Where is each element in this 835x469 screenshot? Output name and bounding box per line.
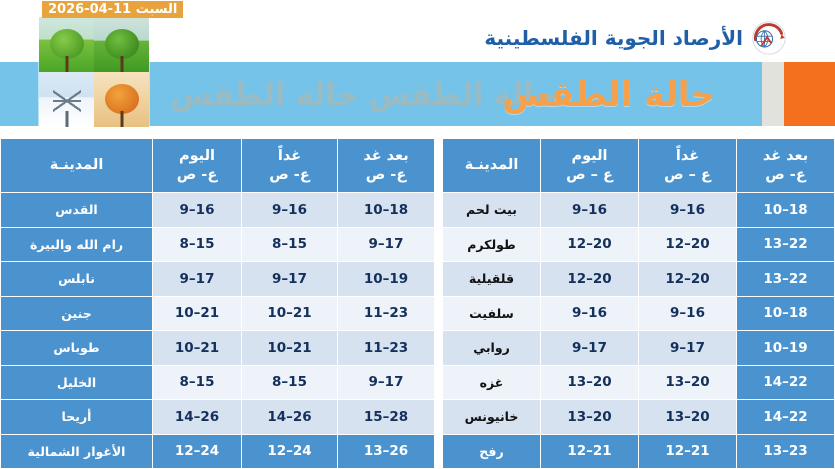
cell-day-after-temp: 13–22 <box>737 262 835 297</box>
cell-today-temp: 12–20 <box>541 262 639 297</box>
table-header-row: بعد غد ع- ص غداً ع – ص اليوم ع – ص المدي… <box>443 139 835 193</box>
cell-day-after-temp: 15–28 <box>338 400 435 435</box>
temperature-range: 10–18 <box>364 202 408 218</box>
header-line-2: ع- ص <box>338 166 434 184</box>
cell-tomorrow-temp: 10–21 <box>242 296 338 331</box>
temperature-range: 13–20 <box>567 409 611 425</box>
date-day-name: السبت <box>136 2 178 17</box>
header-line-1: بعد غد <box>763 148 808 164</box>
cell-today-temp: 14–26 <box>153 400 242 435</box>
forecast-table-left-body: 10–189–169–16بيت لحم13–2212–2012–20طولكر… <box>443 193 835 469</box>
forecast-tables: بعد غد ع- ص غداً ع – ص اليوم ع – ص المدي… <box>0 138 835 469</box>
date-value: 2026-04-11 <box>48 2 131 17</box>
temperature-range: 10–21 <box>175 340 219 356</box>
cell-city: روابي <box>443 331 541 366</box>
temperature-range: 13–22 <box>763 271 807 287</box>
cell-today-temp: 9–16 <box>541 296 639 331</box>
cell-city: رفح <box>443 434 541 469</box>
temperature-range: 9–17 <box>272 271 307 287</box>
cell-city: قلقيلية <box>443 262 541 297</box>
season-panel-spring <box>94 17 149 72</box>
cell-city: خانيونس <box>443 400 541 435</box>
column-header-today: اليوم ع – ص <box>541 139 639 193</box>
four-seasons-image <box>38 16 150 128</box>
temperature-range: 15–28 <box>364 409 408 425</box>
forecast-table-left: بعد غد ع- ص غداً ع – ص اليوم ع – ص المدي… <box>442 138 835 469</box>
table-row: 9–178–158–15رام الله والبيرة <box>1 227 435 262</box>
season-panel-winter <box>39 72 94 127</box>
cell-today-temp: 9–17 <box>541 331 639 366</box>
cell-today-temp: 12–24 <box>153 434 242 469</box>
temperature-range: 9–17 <box>369 236 404 252</box>
table-row: 10–199–179–17روابي <box>443 331 835 366</box>
temperature-range: 10–21 <box>267 305 311 321</box>
cell-today-temp: 12–20 <box>541 227 639 262</box>
table-row: 13–2212–2012–20قلقيلية <box>443 262 835 297</box>
cell-today-temp: 8–15 <box>153 365 242 400</box>
temperature-range: 9–17 <box>572 340 607 356</box>
cell-city: الأغوار الشمالية <box>1 434 153 469</box>
temperature-range: 9–17 <box>180 271 215 287</box>
organization-name: الأرصاد الجوية الفلسطينية <box>484 26 743 50</box>
cell-day-after-temp: 11–23 <box>338 331 435 366</box>
cell-city: غزه <box>443 365 541 400</box>
cell-day-after-temp: 10–19 <box>737 331 835 366</box>
temperature-range: 10–18 <box>763 202 807 218</box>
temperature-range: 14–26 <box>175 409 219 425</box>
cell-today-temp: 10–21 <box>153 331 242 366</box>
table-row: 13–2312–2112–21رفح <box>443 434 835 469</box>
cell-tomorrow-temp: 9–16 <box>639 296 737 331</box>
header-line-1: اليوم <box>571 148 607 164</box>
table-row: 14–2213–2013–20خانيونس <box>443 400 835 435</box>
banner-gray-gap <box>762 62 784 126</box>
cell-day-after-temp: 10–19 <box>338 262 435 297</box>
cell-city: طولكرم <box>443 227 541 262</box>
temperature-range: 12–20 <box>567 271 611 287</box>
temperature-range: 14–22 <box>763 374 807 390</box>
cell-tomorrow-temp: 12–20 <box>639 227 737 262</box>
season-panel-summer <box>39 17 94 72</box>
cell-city: بيت لحم <box>443 193 541 228</box>
cell-tomorrow-temp: 8–15 <box>242 227 338 262</box>
cell-day-after-temp: 14–22 <box>737 365 835 400</box>
cell-today-temp: 9–17 <box>153 262 242 297</box>
column-header-day-after: بعد غد ع- ص <box>737 139 835 193</box>
date-badge: السبت 2026-04-11 <box>42 1 183 18</box>
tree-crown-icon <box>105 29 139 59</box>
temperature-range: 11–23 <box>364 340 408 356</box>
temperature-range: 9–16 <box>272 202 307 218</box>
cell-today-temp: 12–21 <box>541 434 639 469</box>
temperature-range: 13–20 <box>665 409 709 425</box>
header-line-2: ع- ص <box>737 166 834 184</box>
cell-day-after-temp: 10–18 <box>737 193 835 228</box>
column-header-city: المدينـة <box>443 139 541 193</box>
temperature-range: 8–15 <box>180 374 215 390</box>
temperature-range: 8–15 <box>180 236 215 252</box>
cell-day-after-temp: 13–23 <box>737 434 835 469</box>
temperature-range: 12–24 <box>267 443 311 459</box>
table-gap <box>435 138 442 469</box>
season-panel-autumn <box>94 72 149 127</box>
cell-city: أريحا <box>1 400 153 435</box>
cell-tomorrow-temp: 12–24 <box>242 434 338 469</box>
table-row: 11–2310–2110–21جنين <box>1 296 435 331</box>
header-line-1: بعد غد <box>363 148 408 164</box>
temperature-range: 12–24 <box>175 443 219 459</box>
temperature-range: 12–20 <box>665 271 709 287</box>
tree-trunk-icon <box>65 111 68 127</box>
table-header-row: بعد غد ع- ص غداً ع- ص اليوم ع- ص المدينـ… <box>1 139 435 193</box>
temperature-range: 10–21 <box>267 340 311 356</box>
temperature-range: 13–23 <box>763 443 807 459</box>
temperature-range: 12–21 <box>665 443 709 459</box>
column-header-tomorrow: غداً ع – ص <box>639 139 737 193</box>
temperature-range: 8–15 <box>272 236 307 252</box>
header-line-1: اليوم <box>179 148 215 164</box>
cell-day-after-temp: 9–17 <box>338 227 435 262</box>
temperature-range: 9–17 <box>670 340 705 356</box>
page-header: حالة الطقس حالة الطقس حالة الطقس الأرصاد… <box>0 0 835 130</box>
temperature-range: 9–16 <box>670 305 705 321</box>
cell-day-after-temp: 14–22 <box>737 400 835 435</box>
forecast-table-right: بعد غد ع- ص غداً ع- ص اليوم ع- ص المدينـ… <box>0 138 435 469</box>
cell-day-after-temp: 10–18 <box>338 193 435 228</box>
cell-day-after-temp: 13–22 <box>737 227 835 262</box>
cell-day-after-temp: 11–23 <box>338 296 435 331</box>
table-row: 10–189–169–16سلفيت <box>443 296 835 331</box>
temperature-range: 10–19 <box>364 271 408 287</box>
temperature-range: 9–17 <box>369 374 404 390</box>
cell-tomorrow-temp: 12–20 <box>639 262 737 297</box>
cell-today-temp: 9–16 <box>153 193 242 228</box>
temperature-range: 9–16 <box>670 202 705 218</box>
temperature-range: 12–20 <box>665 236 709 252</box>
palestinian-meteorological-department-logo <box>751 20 787 56</box>
temperature-range: 13–22 <box>763 236 807 252</box>
table-row: 13–2212–2012–20طولكرم <box>443 227 835 262</box>
temperature-range: 13–20 <box>567 374 611 390</box>
cell-day-after-temp: 9–17 <box>338 365 435 400</box>
cell-tomorrow-temp: 12–21 <box>639 434 737 469</box>
table-row: 10–189–169–16بيت لحم <box>443 193 835 228</box>
temperature-range: 9–16 <box>572 202 607 218</box>
table-row: 11–2310–2110–21طوباس <box>1 331 435 366</box>
temperature-range: 11–23 <box>364 305 408 321</box>
header-line-2: ع- ص <box>242 166 337 184</box>
banner-title: حالة الطقس <box>502 66 715 124</box>
tree-crown-icon <box>50 29 84 59</box>
temperature-range: 10–21 <box>175 305 219 321</box>
tree-crown-icon <box>105 84 139 114</box>
temperature-range: 10–18 <box>763 305 807 321</box>
cell-tomorrow-temp: 10–21 <box>242 331 338 366</box>
header-line-2: ع – ص <box>639 166 736 184</box>
temperature-range: 12–21 <box>567 443 611 459</box>
forecast-table-right-body: 10–189–169–16القدس9–178–158–15رام الله و… <box>1 193 435 469</box>
temperature-range: 13–20 <box>665 374 709 390</box>
cell-city: سلفيت <box>443 296 541 331</box>
column-header-tomorrow: غداً ع- ص <box>242 139 338 193</box>
temperature-range: 9–16 <box>180 202 215 218</box>
table-row: 9–178–158–15الخليل <box>1 365 435 400</box>
header-line-1: غداً <box>278 148 301 164</box>
temperature-range: 10–19 <box>763 340 807 356</box>
header-line-2: ع- ص <box>153 166 241 184</box>
organization-line: الأرصاد الجوية الفلسطينية <box>484 20 787 56</box>
cell-city: نابلس <box>1 262 153 297</box>
temperature-range: 12–20 <box>567 236 611 252</box>
temperature-range: 14–26 <box>267 409 311 425</box>
cell-day-after-temp: 10–18 <box>737 296 835 331</box>
table-row: 13–2612–2412–24الأغوار الشمالية <box>1 434 435 469</box>
column-header-today: اليوم ع- ص <box>153 139 242 193</box>
cell-city: جنين <box>1 296 153 331</box>
header-line-2: ع – ص <box>541 166 638 184</box>
cell-tomorrow-temp: 9–17 <box>242 262 338 297</box>
temperature-range: 8–15 <box>272 374 307 390</box>
cell-tomorrow-temp: 8–15 <box>242 365 338 400</box>
cell-tomorrow-temp: 9–16 <box>242 193 338 228</box>
cell-day-after-temp: 13–26 <box>338 434 435 469</box>
tree-trunk-icon <box>65 56 68 72</box>
table-row: 14–2213–2013–20غزه <box>443 365 835 400</box>
cell-today-temp: 8–15 <box>153 227 242 262</box>
cell-today-temp: 13–20 <box>541 400 639 435</box>
cell-tomorrow-temp: 14–26 <box>242 400 338 435</box>
tree-trunk-icon <box>120 111 123 127</box>
cell-city: القدس <box>1 193 153 228</box>
table-row: 10–199–179–17نابلس <box>1 262 435 297</box>
cell-city: طوباس <box>1 331 153 366</box>
cell-city: رام الله والبيرة <box>1 227 153 262</box>
cell-tomorrow-temp: 13–20 <box>639 365 737 400</box>
header-line-1: غداً <box>676 148 699 164</box>
banner-orange-block <box>784 62 835 126</box>
cell-city: الخليل <box>1 365 153 400</box>
column-header-city: المدينـة <box>1 139 153 193</box>
temperature-range: 14–22 <box>763 409 807 425</box>
cell-today-temp: 9–16 <box>541 193 639 228</box>
temperature-range: 13–26 <box>364 443 408 459</box>
tree-trunk-icon <box>120 56 123 72</box>
column-header-day-after: بعد غد ع- ص <box>338 139 435 193</box>
cell-tomorrow-temp: 9–17 <box>639 331 737 366</box>
temperature-range: 9–16 <box>572 305 607 321</box>
cell-today-temp: 13–20 <box>541 365 639 400</box>
table-row: 15–2814–2614–26أريحا <box>1 400 435 435</box>
table-row: 10–189–169–16القدس <box>1 193 435 228</box>
cell-today-temp: 10–21 <box>153 296 242 331</box>
cell-tomorrow-temp: 9–16 <box>639 193 737 228</box>
cell-tomorrow-temp: 13–20 <box>639 400 737 435</box>
